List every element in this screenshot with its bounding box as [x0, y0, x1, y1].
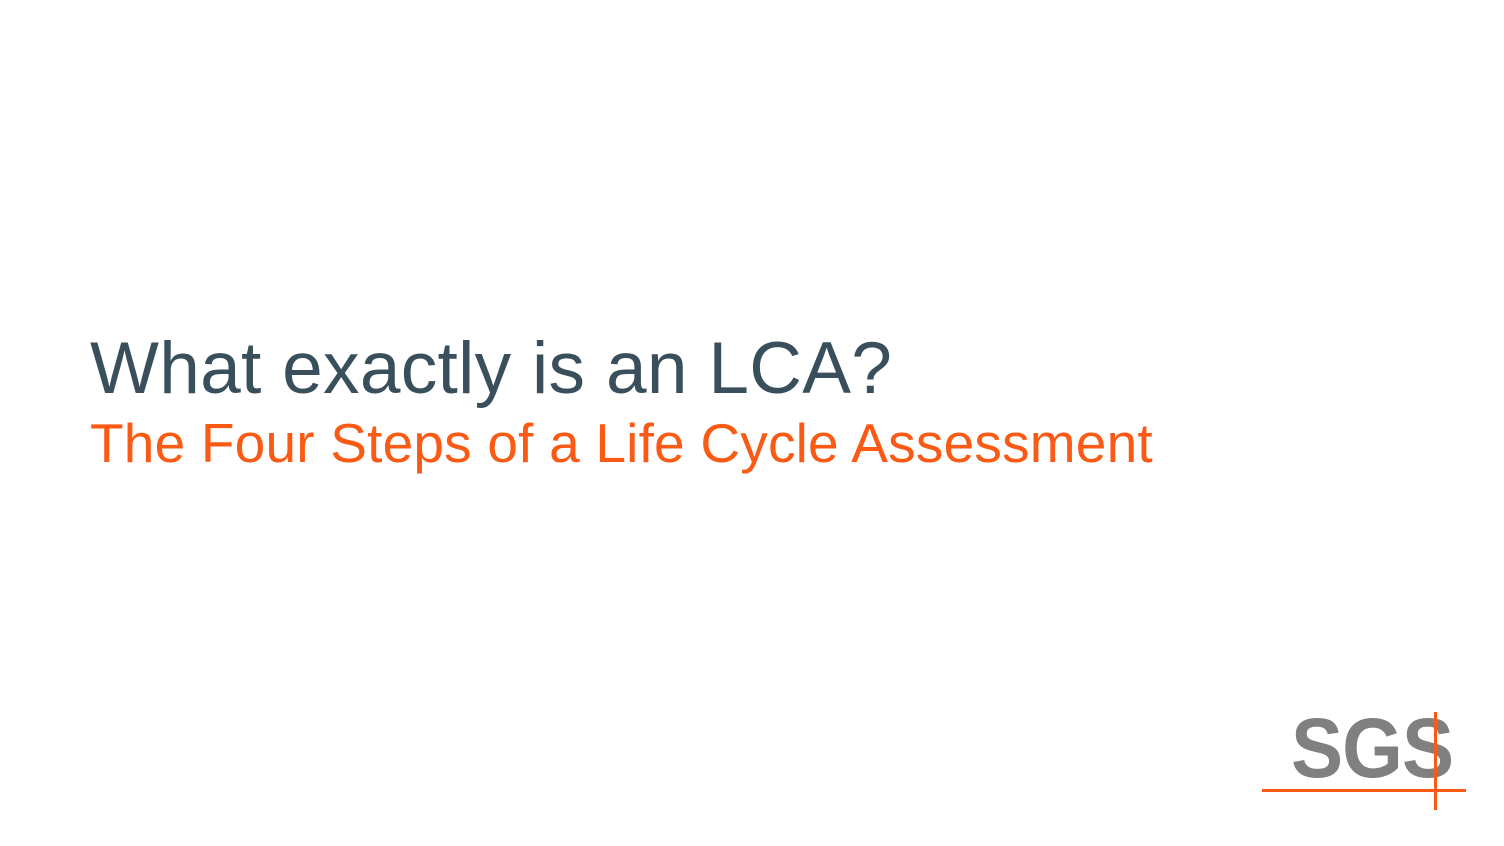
logo-vertical-rule-icon: [1434, 712, 1437, 810]
sgs-logo: SGS: [1258, 706, 1470, 816]
presentation-slide: What exactly is an LCA? The Four Steps o…: [0, 0, 1504, 846]
headline-block: What exactly is an LCA? The Four Steps o…: [90, 332, 1390, 473]
page-subtitle: The Four Steps of a Life Cycle Assessmen…: [90, 406, 1390, 473]
page-title: What exactly is an LCA?: [90, 332, 1390, 406]
sgs-logo-wordmark: SGS: [1291, 703, 1453, 793]
